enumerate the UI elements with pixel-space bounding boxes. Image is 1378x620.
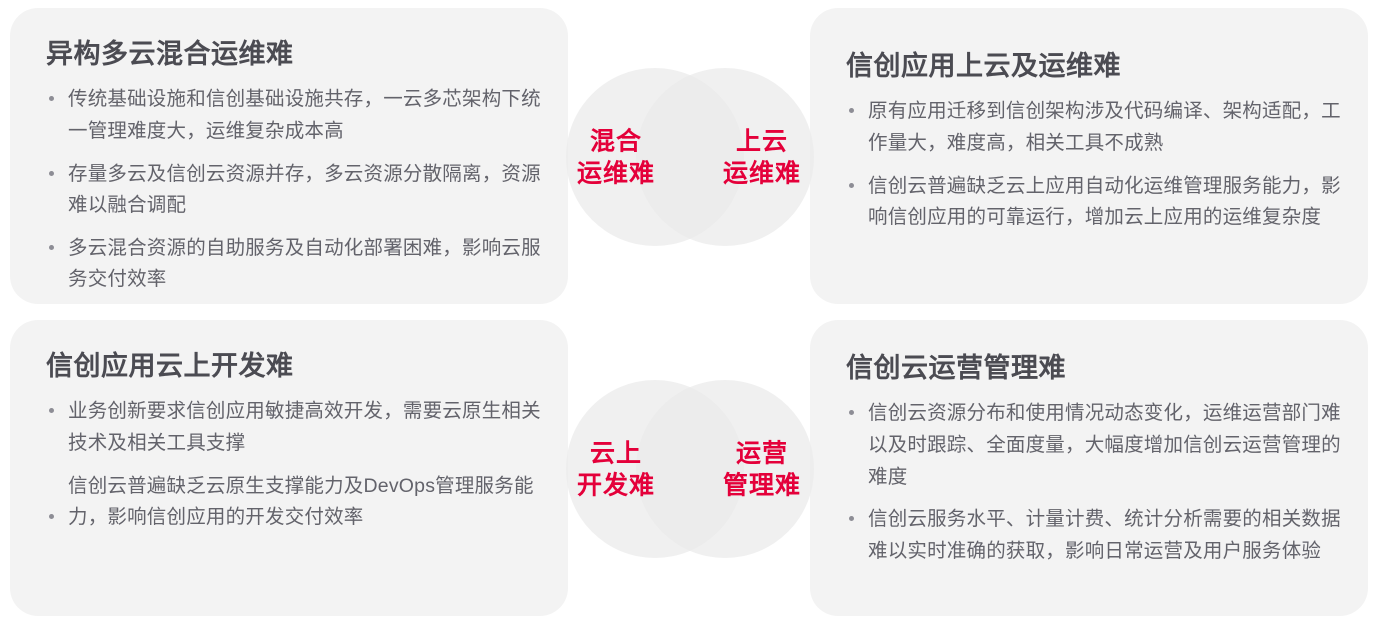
bullet-dot-icon [849, 410, 854, 415]
card-bottom-right-bullet-list: 信创云资源分布和使用情况动态变化，运维运营部门难以及时跟踪、全面度量，大幅度增加… [846, 398, 1342, 567]
card-bottom-left-content: 信创应用云上开发难 业务创新要求信创应用敏捷高效开发，需要云原生相关技术及相关工… [10, 320, 568, 534]
venn-label-left-line1: 云上 [560, 439, 672, 471]
card-bottom-right[interactable]: 信创云运营管理难 信创云资源分布和使用情况动态变化，运维运营部门难以及时跟踪、全… [810, 320, 1368, 616]
list-item-text: 传统基础设施和信创基础设施共存，一云多芯架构下统一管理难度大，运维复杂成本高 [68, 88, 541, 142]
diagram-canvas: 异构多云混合运维难 传统基础设施和信创基础设施共存，一云多芯架构下统一管理难度大… [0, 0, 1378, 620]
venn-label-left: 混合 运维难 [560, 127, 672, 190]
list-item: 多云混合资源的自助服务及自动化部署困难，影响云服务交付效率 [46, 233, 546, 296]
list-item-text: 业务创新要求信创应用敏捷高效开发，需要云原生相关技术及相关工具支撑 [68, 400, 541, 454]
bullet-dot-icon [849, 108, 854, 113]
venn-diagram-top: 混合 运维难 上云 运维难 [558, 68, 820, 248]
card-top-left-content: 异构多云混合运维难 传统基础设施和信创基础设施共存，一云多芯架构下统一管理难度大… [10, 8, 568, 296]
list-item: 信创云服务水平、计量计费、统计分析需要的相关数据难以实时准确的获取，影响日常运营… [846, 504, 1342, 567]
card-top-right[interactable]: 信创应用上云及运维难 原有应用迁移到信创架构涉及代码编译、架构适配，工作量大，难… [810, 8, 1368, 304]
venn-label-left-line2: 开发难 [560, 470, 672, 502]
list-item: 信创云普遍缺乏云上应用自动化运维管理服务能力，影响信创应用的可靠运行，增加云上应… [846, 171, 1342, 234]
list-item-text: 存量多云及信创云资源并存，多云资源分散隔离，资源难以融合调配 [68, 163, 541, 217]
bullet-dot-icon [849, 183, 854, 188]
list-item-text: 原有应用迁移到信创架构涉及代码编译、架构适配，工作量大，难度高，相关工具不成熟 [868, 100, 1341, 154]
venn-label-right-line1: 上云 [706, 127, 818, 159]
card-bottom-right-content: 信创云运营管理难 信创云资源分布和使用情况动态变化，运维运营部门难以及时跟踪、全… [810, 320, 1368, 567]
list-item-text: 信创云服务水平、计量计费、统计分析需要的相关数据难以实时准确的获取，影响日常运营… [868, 508, 1341, 562]
venn-label-left-line1: 混合 [560, 127, 672, 159]
card-bottom-left-title: 信创应用云上开发难 [46, 350, 546, 382]
bullet-dot-icon [49, 171, 54, 176]
card-top-right-content: 信创应用上云及运维难 原有应用迁移到信创架构涉及代码编译、架构适配，工作量大，难… [810, 8, 1368, 234]
card-top-right-bullet-list: 原有应用迁移到信创架构涉及代码编译、架构适配，工作量大，难度高，相关工具不成熟 … [846, 96, 1342, 233]
list-item: 信创云资源分布和使用情况动态变化，运维运营部门难以及时跟踪、全面度量，大幅度增加… [846, 398, 1342, 493]
bullet-dot-icon [49, 96, 54, 101]
card-top-left-bullet-list: 传统基础设施和信创基础设施共存，一云多芯架构下统一管理难度大，运维复杂成本高 存… [46, 84, 546, 295]
list-item-text: 信创云普遍缺乏云上应用自动化运维管理服务能力，影响信创应用的可靠运行，增加云上应… [868, 175, 1341, 229]
list-item: 业务创新要求信创应用敏捷高效开发，需要云原生相关技术及相关工具支撑 [46, 396, 546, 459]
venn-diagram-bottom: 云上 开发难 运营 管理难 [558, 380, 820, 560]
list-item: 信创云普遍缺乏云原生支撑能力及DevOps管理服务能力，影响信创应用的开发交付效… [46, 471, 546, 534]
list-item-text: 信创云普遍缺乏云原生支撑能力及DevOps管理服务能力，影响信创应用的开发交付效… [68, 475, 534, 529]
venn-label-right-line2: 管理难 [706, 470, 818, 502]
list-item-text: 信创云资源分布和使用情况动态变化，运维运营部门难以及时跟踪、全面度量，大幅度增加… [868, 402, 1341, 487]
venn-label-right-line1: 运营 [706, 439, 818, 471]
list-item: 原有应用迁移到信创架构涉及代码编译、架构适配，工作量大，难度高，相关工具不成熟 [846, 96, 1342, 159]
card-bottom-left-bullet-list: 业务创新要求信创应用敏捷高效开发，需要云原生相关技术及相关工具支撑 信创云普遍缺… [46, 396, 546, 533]
card-top-left[interactable]: 异构多云混合运维难 传统基础设施和信创基础设施共存，一云多芯架构下统一管理难度大… [10, 8, 568, 304]
list-item: 存量多云及信创云资源并存，多云资源分散隔离，资源难以融合调配 [46, 159, 546, 222]
card-bottom-right-title: 信创云运营管理难 [846, 352, 1342, 384]
bullet-dot-icon [49, 408, 54, 413]
bullet-dot-icon [49, 514, 54, 519]
venn-label-left-line2: 运维难 [560, 158, 672, 190]
card-top-right-title: 信创应用上云及运维难 [846, 50, 1342, 82]
list-item-text: 多云混合资源的自助服务及自动化部署困难，影响云服务交付效率 [68, 237, 541, 291]
bullet-dot-icon [49, 245, 54, 250]
card-top-left-title: 异构多云混合运维难 [46, 38, 546, 70]
card-bottom-left[interactable]: 信创应用云上开发难 业务创新要求信创应用敏捷高效开发，需要云原生相关技术及相关工… [10, 320, 568, 616]
bullet-dot-icon [849, 516, 854, 521]
venn-label-right: 运营 管理难 [706, 439, 818, 502]
venn-label-right-line2: 运维难 [706, 158, 818, 190]
list-item: 传统基础设施和信创基础设施共存，一云多芯架构下统一管理难度大，运维复杂成本高 [46, 84, 546, 147]
venn-label-right: 上云 运维难 [706, 127, 818, 190]
venn-label-left: 云上 开发难 [560, 439, 672, 502]
